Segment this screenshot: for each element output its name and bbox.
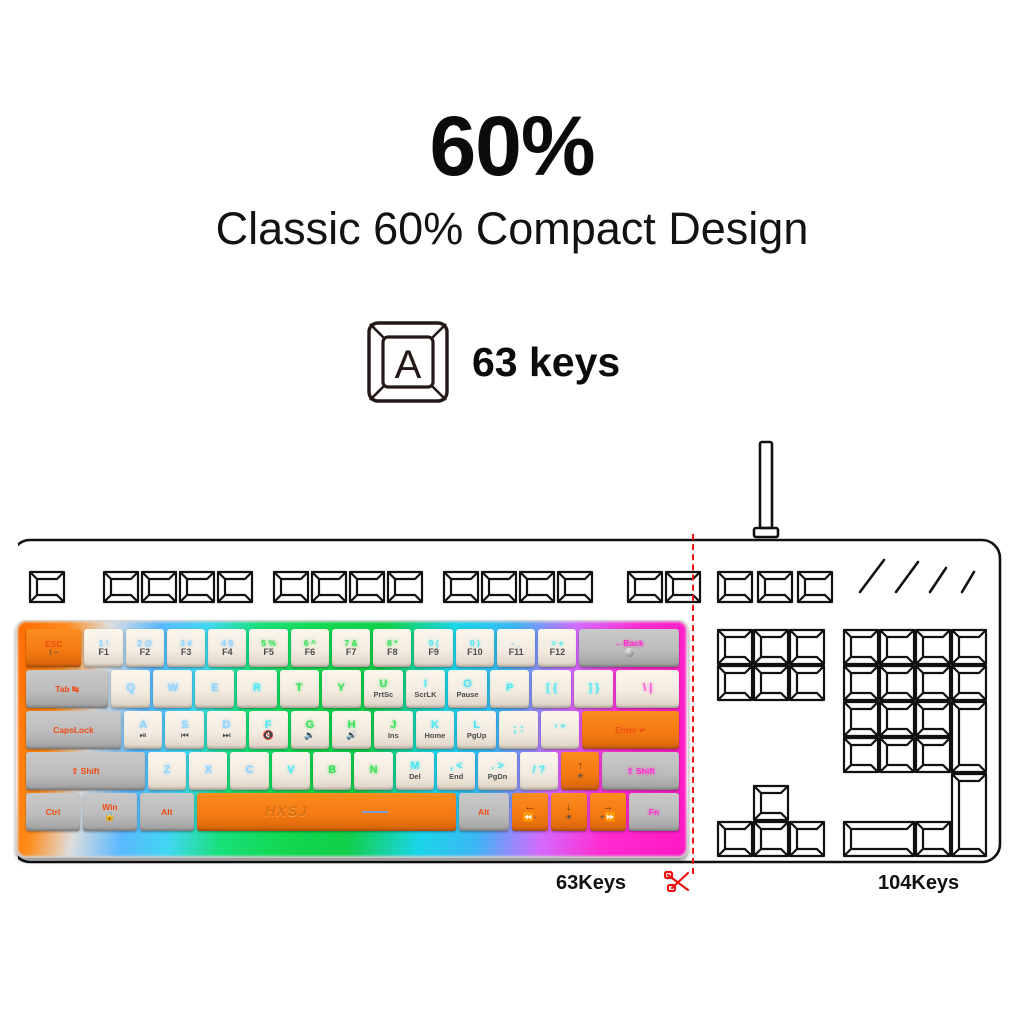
shift-row: ⇧ ShiftZXCVBNMDel, <End. >PgDn/ ?↑☀⇧ Shi… [26,752,679,790]
key-arrow-right[interactable]: →+⏩ [590,793,626,831]
key-arrow-down[interactable]: ↓☀ [551,793,587,831]
legend-main: ] } [588,683,599,695]
key-esc[interactable]: ESC\ ~ [26,629,81,667]
outline-key [718,572,752,602]
key-v[interactable]: V [272,752,310,790]
outline-key [916,822,950,856]
outline-key [520,572,554,602]
legend-secondary: ScrLK [414,691,436,699]
indicator-dot [625,648,634,657]
outline-key [844,630,878,664]
legend-main: ; : [513,724,523,736]
key-l[interactable]: LPgUp [457,711,496,749]
outline-key [880,630,914,664]
outline-key [844,738,878,772]
key-f6[interactable]: 6 ^F6 [291,629,329,667]
key-q[interactable]: Q [111,670,150,708]
outline-key [718,822,752,856]
legend-fkey: F5 [263,648,274,657]
legend-main: X [205,765,212,777]
legend-main: Y [338,683,345,695]
function-row: ESC\ ~1 !F12 @F23 #F34 $F45 %F56 ^F67 &F… [26,629,679,667]
outline-key [104,572,138,602]
legend-secondary: \ ~ [49,649,58,657]
key-g[interactable]: G🔉 [291,711,330,749]
legend-main: Q [126,683,135,695]
key-f7[interactable]: 7 &F7 [332,629,370,667]
keycap-letter: A [395,343,422,387]
legend-fkey: F9 [428,648,439,657]
key-s[interactable]: S⏮ [165,711,204,749]
legend-main: / ? [532,765,545,777]
key-arrow-up[interactable]: ↑☀ [561,752,599,790]
legend-modifier: ←Back [615,639,644,648]
key-f5[interactable]: 5 %F5 [249,629,287,667]
media-glyph: ☀ [565,813,573,822]
key-k[interactable]: KHome [416,711,455,749]
legend-main: Z [164,765,171,777]
compact-keyboard-60: ESC\ ~1 !F12 @F23 #F34 $F45 %F56 ^F67 &F… [16,620,688,858]
outline-key [718,666,752,700]
qwerty-row: Tab ↹QWERTYUPrtScIScrLKOPauseP[ {] }\ | [26,670,679,708]
key-capslock[interactable]: CapsLock [26,711,121,749]
key-y[interactable]: Y [322,670,361,708]
outline-key [916,702,950,736]
key-win[interactable]: Win🔒 [83,793,137,831]
key-w[interactable]: W [153,670,192,708]
media-glyph: +⏩ [599,813,615,822]
bottom-row: CtrlWin🔒AltHXSJAlt←⏪-↓☀→+⏩Fn [26,793,679,831]
key-enter[interactable]: Enter ↵ [582,711,679,749]
outline-key [754,630,788,664]
outline-key [350,572,384,602]
media-glyph: 🔒 [104,812,115,821]
legend-modifier: Fn [649,808,659,817]
outline-key [754,666,788,700]
home-row: CapsLockA⏯S⏮D⏭F🔇G🔉H🔊JInsKHomeLPgUp; :' "… [26,711,679,749]
key-backslash[interactable]: \ | [616,670,679,708]
outline-key [444,572,478,602]
scissors-icon [662,866,696,900]
keybed: ESC\ ~1 !F12 @F23 #F34 $F45 %F56 ^F67 &F… [21,624,683,835]
outline-key [312,572,346,602]
legend-main: R [253,683,261,695]
outline-key [916,738,950,772]
legend-modifier: Ctrl [46,808,61,817]
outline-key [790,666,824,700]
media-glyph: 🔉 [304,731,315,740]
outline-key [558,572,592,602]
outline-key [218,572,252,602]
legend-fkey: F12 [550,648,566,657]
legend-secondary: PgDn [488,773,508,781]
key-fn[interactable]: Fn [629,793,679,831]
legend-secondary: End [449,773,463,781]
outline-key [916,630,950,664]
key-bracket-right[interactable]: ] } [574,670,613,708]
legend-modifier: Enter ↵ [615,726,646,735]
legend-modifier: Alt [161,808,172,817]
key-bracket-left[interactable]: [ { [532,670,571,708]
key-f9[interactable]: 9 (F9 [414,629,452,667]
key-tab[interactable]: Tab ↹ [26,670,108,708]
keycap-badge: A 63 keys [366,320,620,404]
key-m[interactable]: MDel [396,752,434,790]
key-comma[interactable]: , <End [437,752,475,790]
key-x[interactable]: X [189,752,227,790]
media-glyph: 🔇 [263,731,274,740]
key-f2[interactable]: 2 @F2 [126,629,164,667]
outline-key [880,666,914,700]
key-f10[interactable]: 0 )F10 [456,629,494,667]
label-63keys: 63Keys [556,872,626,895]
key-spacebar[interactable]: HXSJ [197,793,456,831]
outline-key [844,702,878,736]
cut-line [692,534,694,874]
key-f11[interactable]: - _F11 [497,629,535,667]
outline-key [482,572,516,602]
outline-key [880,738,914,772]
legend-fkey: F6 [305,648,316,657]
outline-key [844,822,914,856]
legend-secondary: PgUp [467,732,487,740]
key-backspace[interactable]: ←Back [579,629,678,667]
legend-secondary: Ins [388,732,399,740]
key-z[interactable]: Z [148,752,186,790]
page-subtitle: Classic 60% Compact Design [0,206,1024,251]
key-b[interactable]: B [313,752,351,790]
key-ctrl-left[interactable]: Ctrl [26,793,80,831]
media-glyph: ⏪- [523,813,537,822]
media-glyph: ⏯ [140,731,147,740]
legend-main: P [506,683,513,695]
outline-key [754,822,788,856]
legend-fkey: F1 [98,648,109,657]
key-t[interactable]: T [280,670,319,708]
outline-key [30,572,64,602]
outline-key [790,630,824,664]
legend-fkey: F2 [140,648,151,657]
spacebar-brand: HXSJ [265,804,308,820]
outline-key [952,774,986,856]
keycap-icon: A [366,320,450,404]
key-f1[interactable]: 1 !F1 [84,629,122,667]
legend-secondary: Pause [457,691,479,699]
outline-key [916,666,950,700]
media-glyph: ⏮ [181,731,189,740]
legend-fkey: F8 [387,648,398,657]
legend-modifier: Alt [478,808,489,817]
outline-key [844,666,878,700]
key-e[interactable]: E [195,670,234,708]
legend-fkey: F3 [181,648,192,657]
key-quote[interactable]: ' " [541,711,580,749]
legend-secondary: Del [409,773,421,781]
headline-block: 60% Classic 60% Compact Design [0,104,1024,251]
legend-main: [ { [546,683,557,695]
key-p[interactable]: P [490,670,529,708]
key-d[interactable]: D⏭ [207,711,246,749]
outline-key [628,572,662,602]
legend-main: C [246,765,254,777]
outline-key [718,630,752,664]
legend-main: E [211,683,218,695]
outline-key [880,702,914,736]
key-j[interactable]: JIns [374,711,413,749]
outline-key [274,572,308,602]
spacebar-dash [362,811,388,813]
key-u[interactable]: UPrtSc [364,670,403,708]
legend-secondary: PrtSc [374,691,394,699]
outline-key [666,572,700,602]
outline-key [952,666,986,700]
key-f[interactable]: F🔇 [249,711,288,749]
legend-modifier: ⇧ Shift [627,767,655,776]
outline-key [790,822,824,856]
legend-fkey: F4 [222,648,233,657]
page-title: 60% [0,104,1024,188]
key-f12[interactable]: = +F12 [538,629,576,667]
key-n[interactable]: N [354,752,392,790]
legend-main: W [168,683,178,695]
key-f3[interactable]: 3 #F3 [167,629,205,667]
outline-key [952,702,986,772]
outline-key [758,572,792,602]
legend-secondary: Home [425,732,446,740]
key-alt-left[interactable]: Alt [140,793,194,831]
label-104keys: 104Keys [878,872,959,895]
legend-main: \ | [643,683,652,695]
legend-fkey: F11 [509,648,524,657]
keycap-count-label: 63 keys [472,339,620,386]
key-shift-left[interactable]: ⇧ Shift [26,752,145,790]
outline-key [180,572,214,602]
legend-main: ' " [555,724,566,736]
legend-fkey: F10 [467,648,483,657]
key-shift-right[interactable]: ⇧ Shift [602,752,679,790]
media-glyph: ☀ [576,772,584,781]
legend-modifier: ⇧ Shift [71,767,99,776]
outline-key [142,572,176,602]
key-f8[interactable]: 8 *F8 [373,629,411,667]
key-arrow-left[interactable]: ←⏪- [512,793,548,831]
media-glyph: 🔊 [346,731,357,740]
key-semicolon[interactable]: ; : [499,711,538,749]
key-r[interactable]: R [237,670,276,708]
key-i[interactable]: IScrLK [406,670,445,708]
legend-main: N [370,765,378,777]
key-period[interactable]: . >PgDn [478,752,516,790]
key-slash[interactable]: / ? [520,752,558,790]
outline-key [952,630,986,664]
outline-key [798,572,832,602]
legend-main: V [287,765,294,777]
legend-modifier: Tab ↹ [55,685,79,694]
key-o[interactable]: OPause [448,670,487,708]
key-alt-right[interactable]: Alt [459,793,509,831]
outline-key [388,572,422,602]
legend-main: T [296,683,303,695]
key-a[interactable]: A⏯ [124,711,163,749]
media-glyph: ⏭ [222,731,230,740]
legend-modifier: CapsLock [53,726,94,735]
key-c[interactable]: C [230,752,268,790]
legend-main: B [328,765,336,777]
legend-fkey: F7 [346,648,357,657]
key-f4[interactable]: 4 $F4 [208,629,246,667]
outline-key [754,786,788,820]
key-h[interactable]: H🔊 [332,711,371,749]
